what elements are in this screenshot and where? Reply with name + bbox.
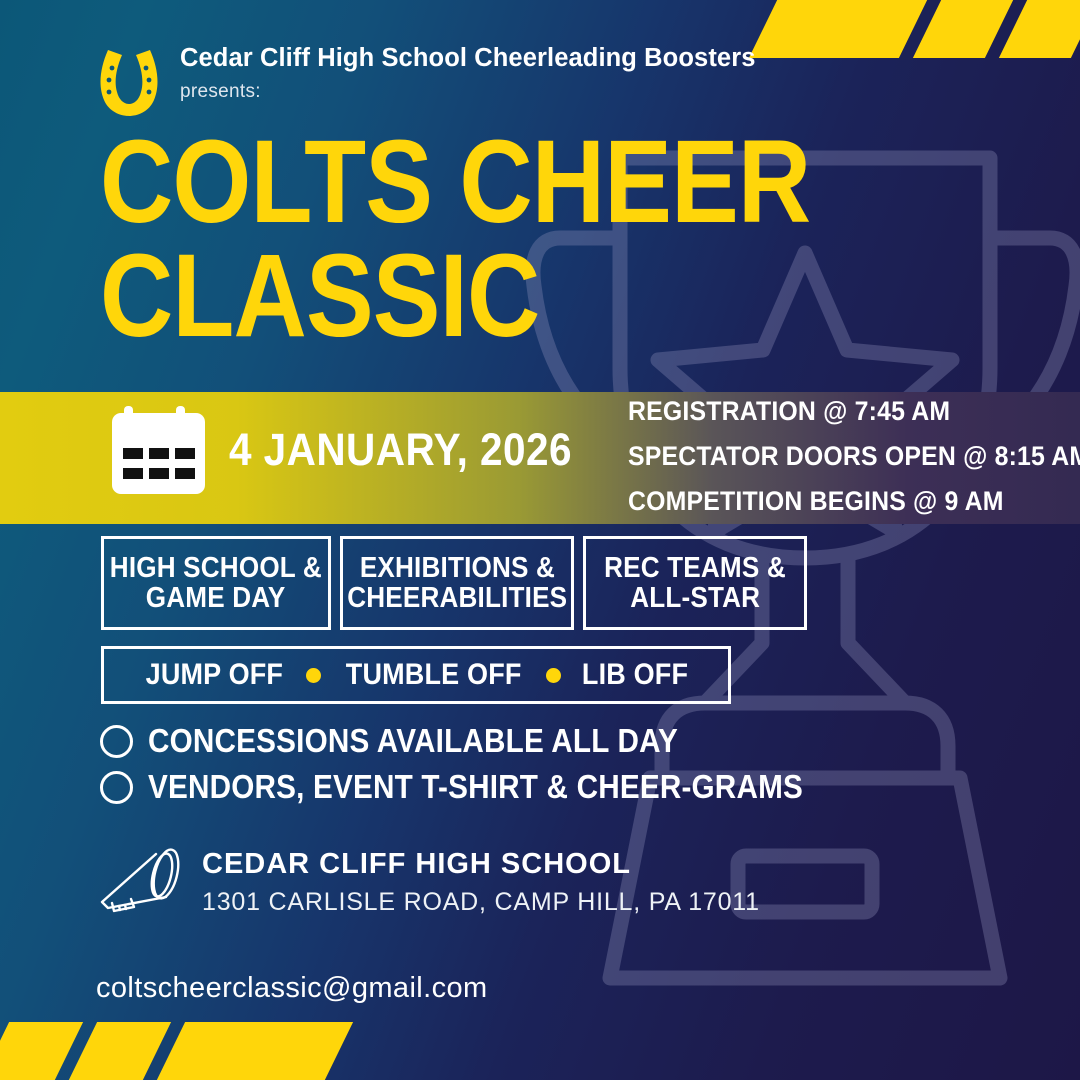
off-events-box: JUMP OFF TUMBLE OFF LIB OFF xyxy=(101,646,731,704)
category-line-1: REC TEAMS & xyxy=(604,553,786,583)
off-event-label: JUMP OFF xyxy=(146,658,283,692)
title-line-2: CLASSIC xyxy=(100,239,810,353)
list-item: CONCESSIONS AVAILABLE ALL DAY xyxy=(100,722,876,760)
presents-label: presents: xyxy=(180,81,756,103)
decorative-stripes-top-right xyxy=(764,0,1080,58)
schedule-item: SPECTATOR DOORS OPEN @ 8:15 AM xyxy=(628,441,1080,472)
flyer-header: Cedar Cliff High School Cheerleading Boo… xyxy=(96,44,756,116)
horseshoe-icon xyxy=(96,46,162,116)
event-flyer: Cedar Cliff High School Cheerleading Boo… xyxy=(0,0,1080,1080)
venue-address: 1301 CARLISLE ROAD, CAMP HILL, PA 17011 xyxy=(202,888,760,917)
amenities-list: CONCESSIONS AVAILABLE ALL DAY VENDORS, E… xyxy=(100,722,876,806)
venue-block: CEDAR CLIFF HIGH SCHOOL 1301 CARLISLE RO… xyxy=(96,846,760,918)
dot-separator-icon xyxy=(546,668,561,683)
venue-name: CEDAR CLIFF HIGH SCHOOL xyxy=(202,848,760,881)
megaphone-icon xyxy=(96,846,182,918)
list-item: VENDORS, EVENT T-SHIRT & CHEER-GRAMS xyxy=(100,768,876,806)
category-box: REC TEAMS & ALL-STAR xyxy=(583,536,807,630)
decorative-stripes-bottom-left xyxy=(0,1022,338,1080)
circle-bullet-icon xyxy=(100,725,133,758)
schedule-item: COMPETITION BEGINS @ 9 AM xyxy=(628,486,1080,517)
category-line-2: CHEERABILITIES xyxy=(347,583,567,613)
schedule-list: REGISTRATION @ 7:45 AM SPECTATOR DOORS O… xyxy=(628,396,1080,517)
page-title: COLTS CHEER CLASSIC xyxy=(100,125,810,354)
category-line-2: ALL-STAR xyxy=(630,583,760,613)
amenity-label: CONCESSIONS AVAILABLE ALL DAY xyxy=(148,722,678,760)
schedule-item: REGISTRATION @ 7:45 AM xyxy=(628,396,1080,427)
contact-email[interactable]: coltscheerclassic@gmail.com xyxy=(96,972,488,1005)
title-line-1: COLTS CHEER xyxy=(100,125,810,239)
category-line-2: GAME DAY xyxy=(146,583,286,613)
event-date: 4 JANUARY, 2026 xyxy=(229,424,572,476)
date-group: 4 JANUARY, 2026 xyxy=(110,404,610,496)
category-line-1: HIGH SCHOOL & xyxy=(110,553,322,583)
category-list: HIGH SCHOOL & GAME DAY EXHIBITIONS & CHE… xyxy=(101,536,807,630)
off-event-label: LIB OFF xyxy=(582,658,688,692)
organization-name: Cedar Cliff High School Cheerleading Boo… xyxy=(180,44,756,72)
circle-bullet-icon xyxy=(100,771,133,804)
category-line-1: EXHIBITIONS & xyxy=(359,553,554,583)
dot-separator-icon xyxy=(306,668,321,683)
off-event-label: TUMBLE OFF xyxy=(345,658,521,692)
calendar-icon xyxy=(110,404,207,496)
amenity-label: VENDORS, EVENT T-SHIRT & CHEER-GRAMS xyxy=(148,768,803,806)
category-box: EXHIBITIONS & CHEERABILITIES xyxy=(340,536,574,630)
category-box: HIGH SCHOOL & GAME DAY xyxy=(101,536,331,630)
